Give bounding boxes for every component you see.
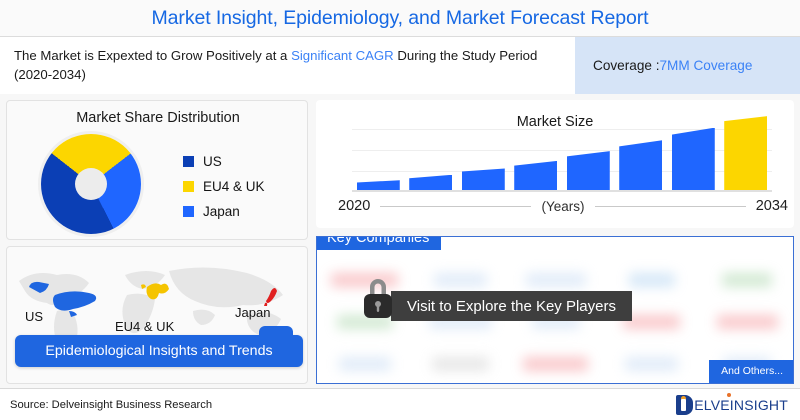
legend-label-eu4-uk: EU4 & UK: [203, 179, 265, 194]
company-logo-placeholder: [413, 343, 509, 384]
donut-chart: [41, 134, 141, 234]
brand-d-mark: [676, 395, 693, 415]
brand-name: ELVEINSIGHT: [694, 397, 788, 413]
pie-chart-title: Market Share Distribution: [7, 110, 309, 126]
logo-blob: [339, 357, 391, 371]
company-logo-placeholder: [317, 343, 413, 384]
market-share-card: Market Share Distribution US EU4 & UK Ja…: [6, 100, 308, 240]
axis-rule-left: [380, 206, 531, 207]
bar-chart-plot: [352, 108, 772, 192]
bar-chart-baseline: [352, 190, 772, 192]
bar-2034: [724, 116, 767, 190]
donut-hole: [75, 168, 107, 200]
source-text: Source: Delveinsight Business Research: [10, 399, 212, 411]
legend-label-us: US: [203, 154, 222, 169]
company-logo-placeholder: [699, 301, 794, 343]
bar-2024: [462, 168, 505, 190]
subtitle-part-1: The Market is Expexted to Grow Positivel…: [14, 48, 291, 63]
lock-icon: [359, 275, 397, 321]
axis-label-center: (Years): [541, 199, 584, 214]
epidemiology-map-card: US EU4 & UK Japan Epidemiological Insigh…: [6, 246, 308, 384]
legend-swatch-eu4-uk: [183, 181, 194, 192]
epidemiological-insights-banner[interactable]: Epidemiological Insights and Trends: [15, 335, 303, 367]
report-infographic: Market Insight, Epidemiology, and Market…: [0, 0, 800, 420]
bar-2032: [672, 128, 715, 190]
banner-label: Epidemiological Insights and Trends: [45, 343, 272, 359]
key-companies-tab: Key Companies: [316, 236, 441, 250]
subheader: The Market is Expexted to Grow Positivel…: [0, 36, 800, 94]
subtitle-text: The Market is Expexted to Grow Positivel…: [0, 37, 575, 94]
axis-label-end: 2034: [756, 198, 788, 214]
logo-blob: [432, 357, 489, 371]
key-players-overlay[interactable]: Visit to Explore the Key Players: [391, 291, 632, 321]
delveinsight-logo: ELVEINSIGHT: [676, 395, 788, 415]
key-companies-panel: Key Companies Visit to Explore the Key P…: [316, 236, 794, 384]
map-label-eu4-uk: EU4 & UK: [115, 319, 174, 334]
legend-item-eu4-uk: EU4 & UK: [183, 174, 265, 199]
company-logo-placeholder: [699, 259, 794, 301]
logo-blob: [722, 273, 772, 287]
company-logo-placeholder: [604, 343, 700, 384]
footer: Source: Delveinsight Business Research E…: [0, 388, 800, 420]
legend-swatch-japan: [183, 206, 194, 217]
legend-swatch-us: [183, 156, 194, 167]
and-others-badge[interactable]: And Others...: [709, 360, 793, 383]
banner-notch: [259, 326, 293, 340]
logo-blob: [526, 273, 585, 287]
bar-2026: [514, 161, 557, 190]
brand-dot: [681, 396, 686, 401]
bar-chart-axis: 2020 (Years) 2034: [338, 198, 788, 214]
logo-blob: [717, 315, 778, 329]
axis-label-start: 2020: [338, 198, 370, 214]
legend-label-japan: Japan: [203, 204, 240, 219]
bar-2028: [567, 151, 610, 190]
pie-legend: US EU4 & UK Japan: [183, 149, 265, 224]
brand-name-text: ELVEINSIGHT: [694, 397, 788, 413]
logo-blob: [625, 357, 679, 371]
coverage-value: 7MM Coverage: [660, 58, 753, 73]
company-logo-placeholder: [508, 343, 604, 384]
legend-item-japan: Japan: [183, 199, 265, 224]
market-size-card: Market Size 2020 (Years) 2034: [316, 100, 794, 228]
coverage-label: Coverage :: [593, 58, 660, 73]
bar-2030: [619, 140, 662, 190]
axis-rule-right: [595, 206, 746, 207]
title-bar: Market Insight, Epidemiology, and Market…: [0, 0, 800, 36]
map-label-us: US: [25, 309, 43, 324]
brand-accent-dot: [727, 393, 731, 397]
subtitle-highlight: Significant CAGR: [291, 48, 394, 63]
page-title: Market Insight, Epidemiology, and Market…: [152, 7, 649, 30]
bar-2020: [357, 180, 400, 190]
map-label-japan: Japan: [235, 305, 270, 320]
bar-2022: [409, 175, 452, 190]
logo-blob: [629, 273, 675, 287]
logo-blob: [434, 273, 487, 287]
legend-item-us: US: [183, 149, 265, 174]
logo-blob: [523, 357, 588, 371]
coverage-box: Coverage : 7MM Coverage: [575, 37, 800, 94]
